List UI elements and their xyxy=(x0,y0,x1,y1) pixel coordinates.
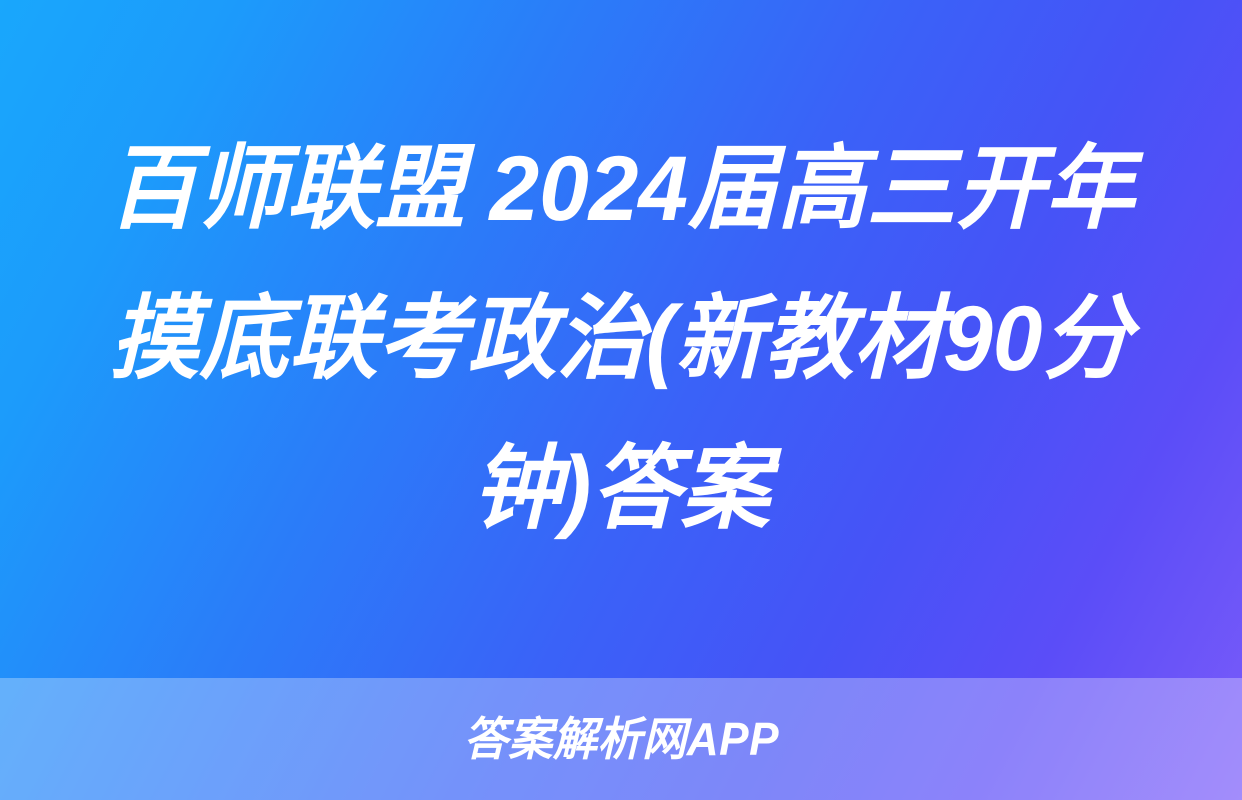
page-title: 百师联盟 2024届高三开年摸底联考政治(新教材90分钟)答案 xyxy=(88,114,1155,564)
watermark-app-label: 答案解析网APP xyxy=(463,716,778,762)
poster-canvas: 百师联盟 2024届高三开年摸底联考政治(新教材90分钟)答案 答案解析网APP xyxy=(0,0,1242,800)
watermark-band: 答案解析网APP xyxy=(0,678,1242,800)
title-area: 百师联盟 2024届高三开年摸底联考政治(新教材90分钟)答案 xyxy=(0,0,1242,678)
